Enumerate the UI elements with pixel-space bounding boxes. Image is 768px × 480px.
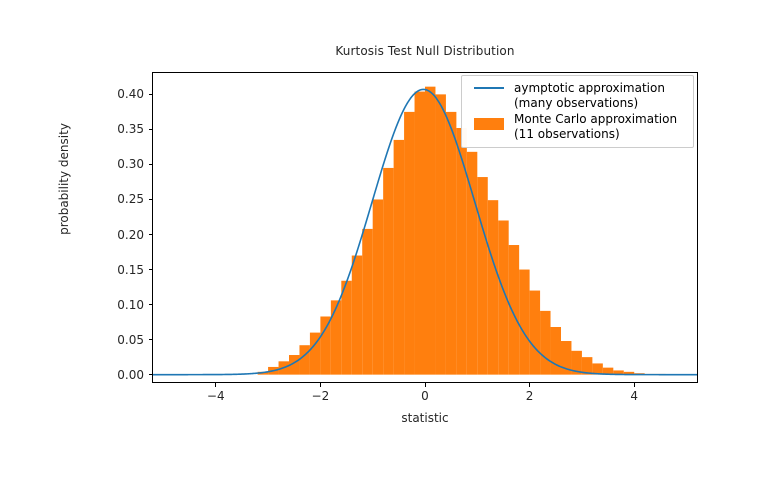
histogram-bar: [519, 270, 529, 375]
legend-entry-asymptotic[interactable]: aymptotic approximation (many observatio…: [469, 81, 686, 110]
histogram-bar: [540, 311, 550, 375]
histogram-bar: [373, 199, 383, 374]
legend[interactable]: aymptotic approximation (many observatio…: [461, 75, 694, 148]
x-tick-mark: [529, 383, 530, 387]
histogram-bar: [456, 128, 466, 375]
histogram-bar: [404, 112, 414, 375]
x-tick-label: 0: [405, 389, 445, 403]
histogram-bar: [362, 229, 372, 375]
histogram-bar: [446, 112, 456, 375]
x-tick-label: −2: [300, 389, 340, 403]
histogram-bar: [352, 256, 362, 375]
histogram-bar: [477, 177, 487, 375]
x-tick-mark: [215, 383, 216, 387]
x-tick-label: 2: [510, 389, 550, 403]
histogram-bar: [435, 94, 445, 374]
histogram-bar: [383, 168, 393, 375]
matplotlib-figure: Kurtosis Test Null Distribution probabil…: [0, 0, 768, 480]
histogram-bar: [415, 92, 425, 375]
x-tick-label: −4: [196, 389, 236, 403]
x-tick-mark: [425, 383, 426, 387]
x-tick-mark: [634, 383, 635, 387]
x-tick-label: 4: [614, 389, 654, 403]
histogram-bar: [331, 300, 341, 374]
legend-patch-swatch-icon: [469, 112, 509, 130]
histogram-bar: [299, 345, 309, 374]
legend-label-asymptotic: aymptotic approximation (many observatio…: [509, 81, 665, 110]
legend-line-swatch-icon: [469, 81, 509, 89]
histogram-bar: [320, 316, 330, 374]
histogram-bar: [341, 281, 351, 375]
histogram-bar: [467, 152, 477, 375]
histogram-bar: [488, 200, 498, 374]
x-tick-mark: [320, 383, 321, 387]
histogram-bar: [394, 140, 404, 375]
histogram-bar: [509, 245, 519, 375]
legend-label-monte-carlo: Monte Carlo approximation (11 observatio…: [509, 112, 677, 141]
histogram-bar: [530, 291, 540, 375]
histogram-bar: [425, 87, 435, 375]
histogram-bar: [551, 327, 561, 375]
legend-entry-monte-carlo[interactable]: Monte Carlo approximation (11 observatio…: [469, 112, 686, 141]
